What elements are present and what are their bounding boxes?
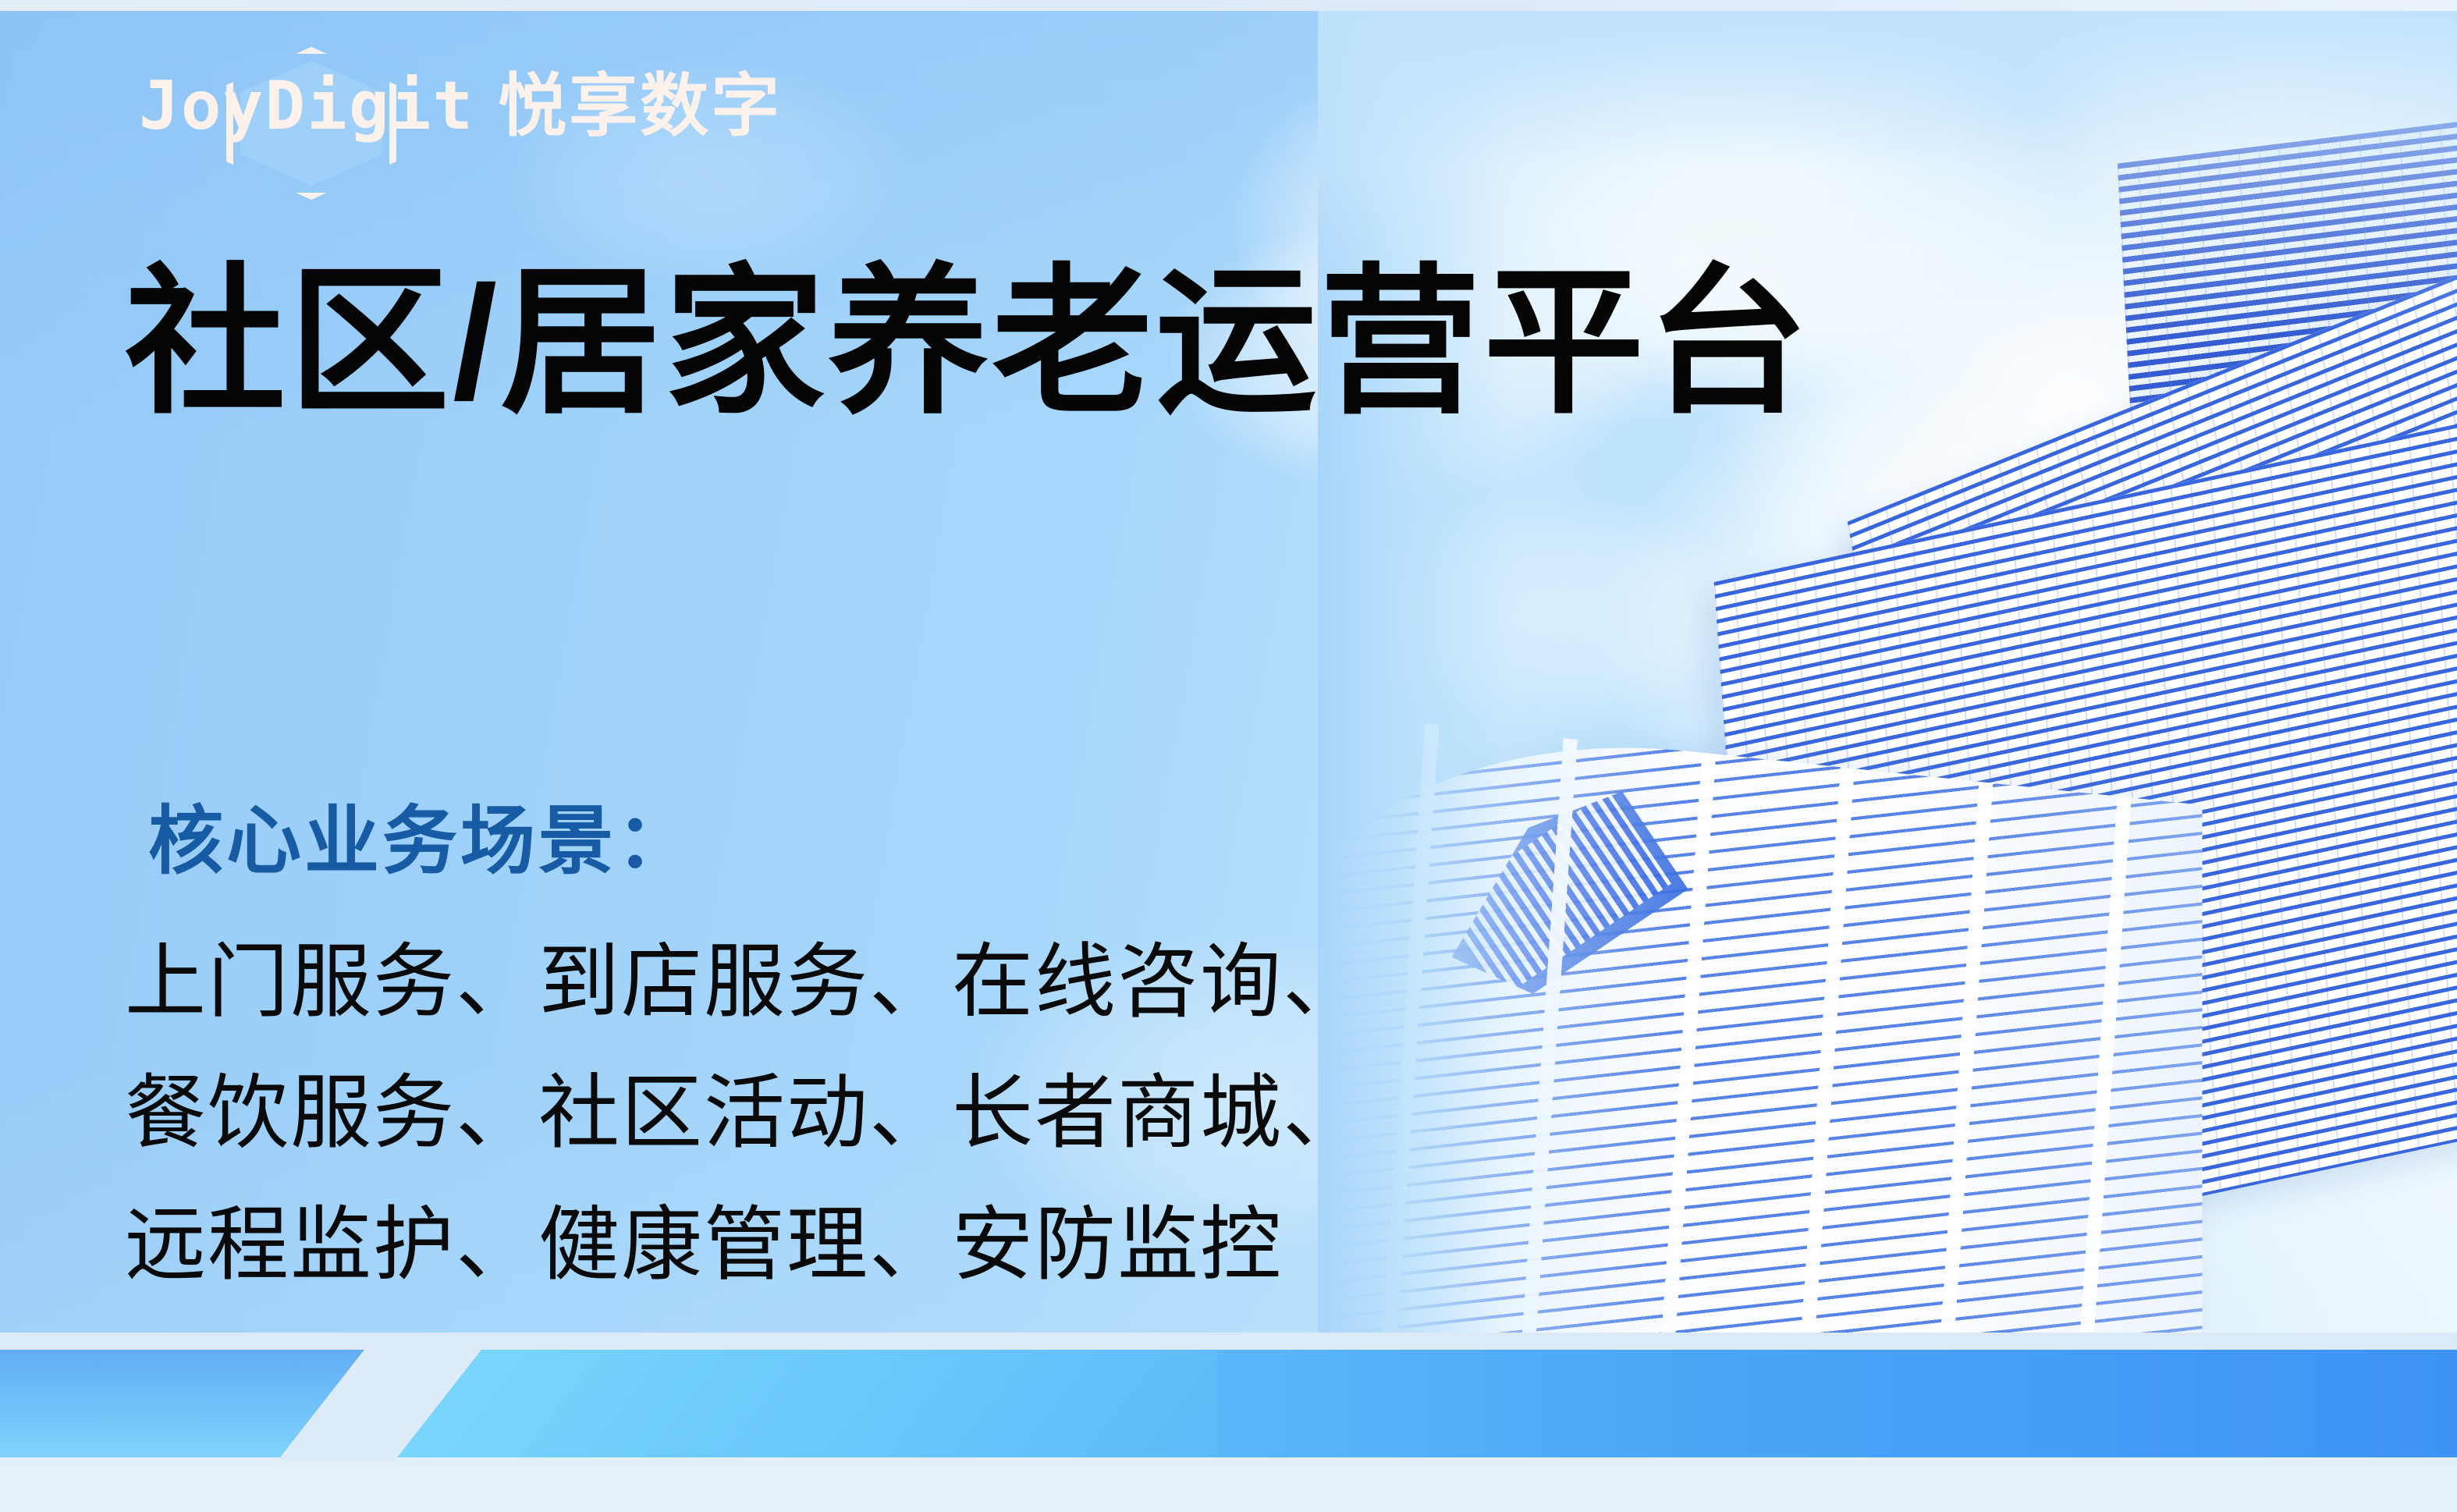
bottom-decoration <box>0 1333 2457 1512</box>
scenario-line: 餐饮服务、社区活动、长者商城、 <box>125 1048 1365 1179</box>
scenario-line: 远程监护、健康管理、安防监控 <box>125 1180 1365 1311</box>
section-heading: 核心业务场景： <box>148 780 694 889</box>
logo-wordmark-cn: 悦享数字 <box>498 72 782 140</box>
scenario-line: 上门服务、到店服务、在线咨询、 <box>125 917 1365 1048</box>
top-accent-strip <box>0 0 2457 11</box>
logo-wordmark-en: JoyDigit <box>139 73 474 140</box>
bottom-bar-fill <box>1217 1350 2457 1457</box>
slide-canvas: JoyDigit 悦享数字 社区/居家养老运营平台 核心业务场景： 上门服务、到… <box>0 0 2457 1512</box>
scenario-list: 上门服务、到店服务、在线咨询、 餐饮服务、社区活动、长者商城、 远程监护、健康管… <box>125 917 1365 1311</box>
page-title: 社区/居家养老运营平台 <box>125 257 1811 428</box>
brand-logo[interactable]: JoyDigit 悦享数字 <box>139 59 782 153</box>
skyscraper-photo <box>1318 11 2457 1451</box>
